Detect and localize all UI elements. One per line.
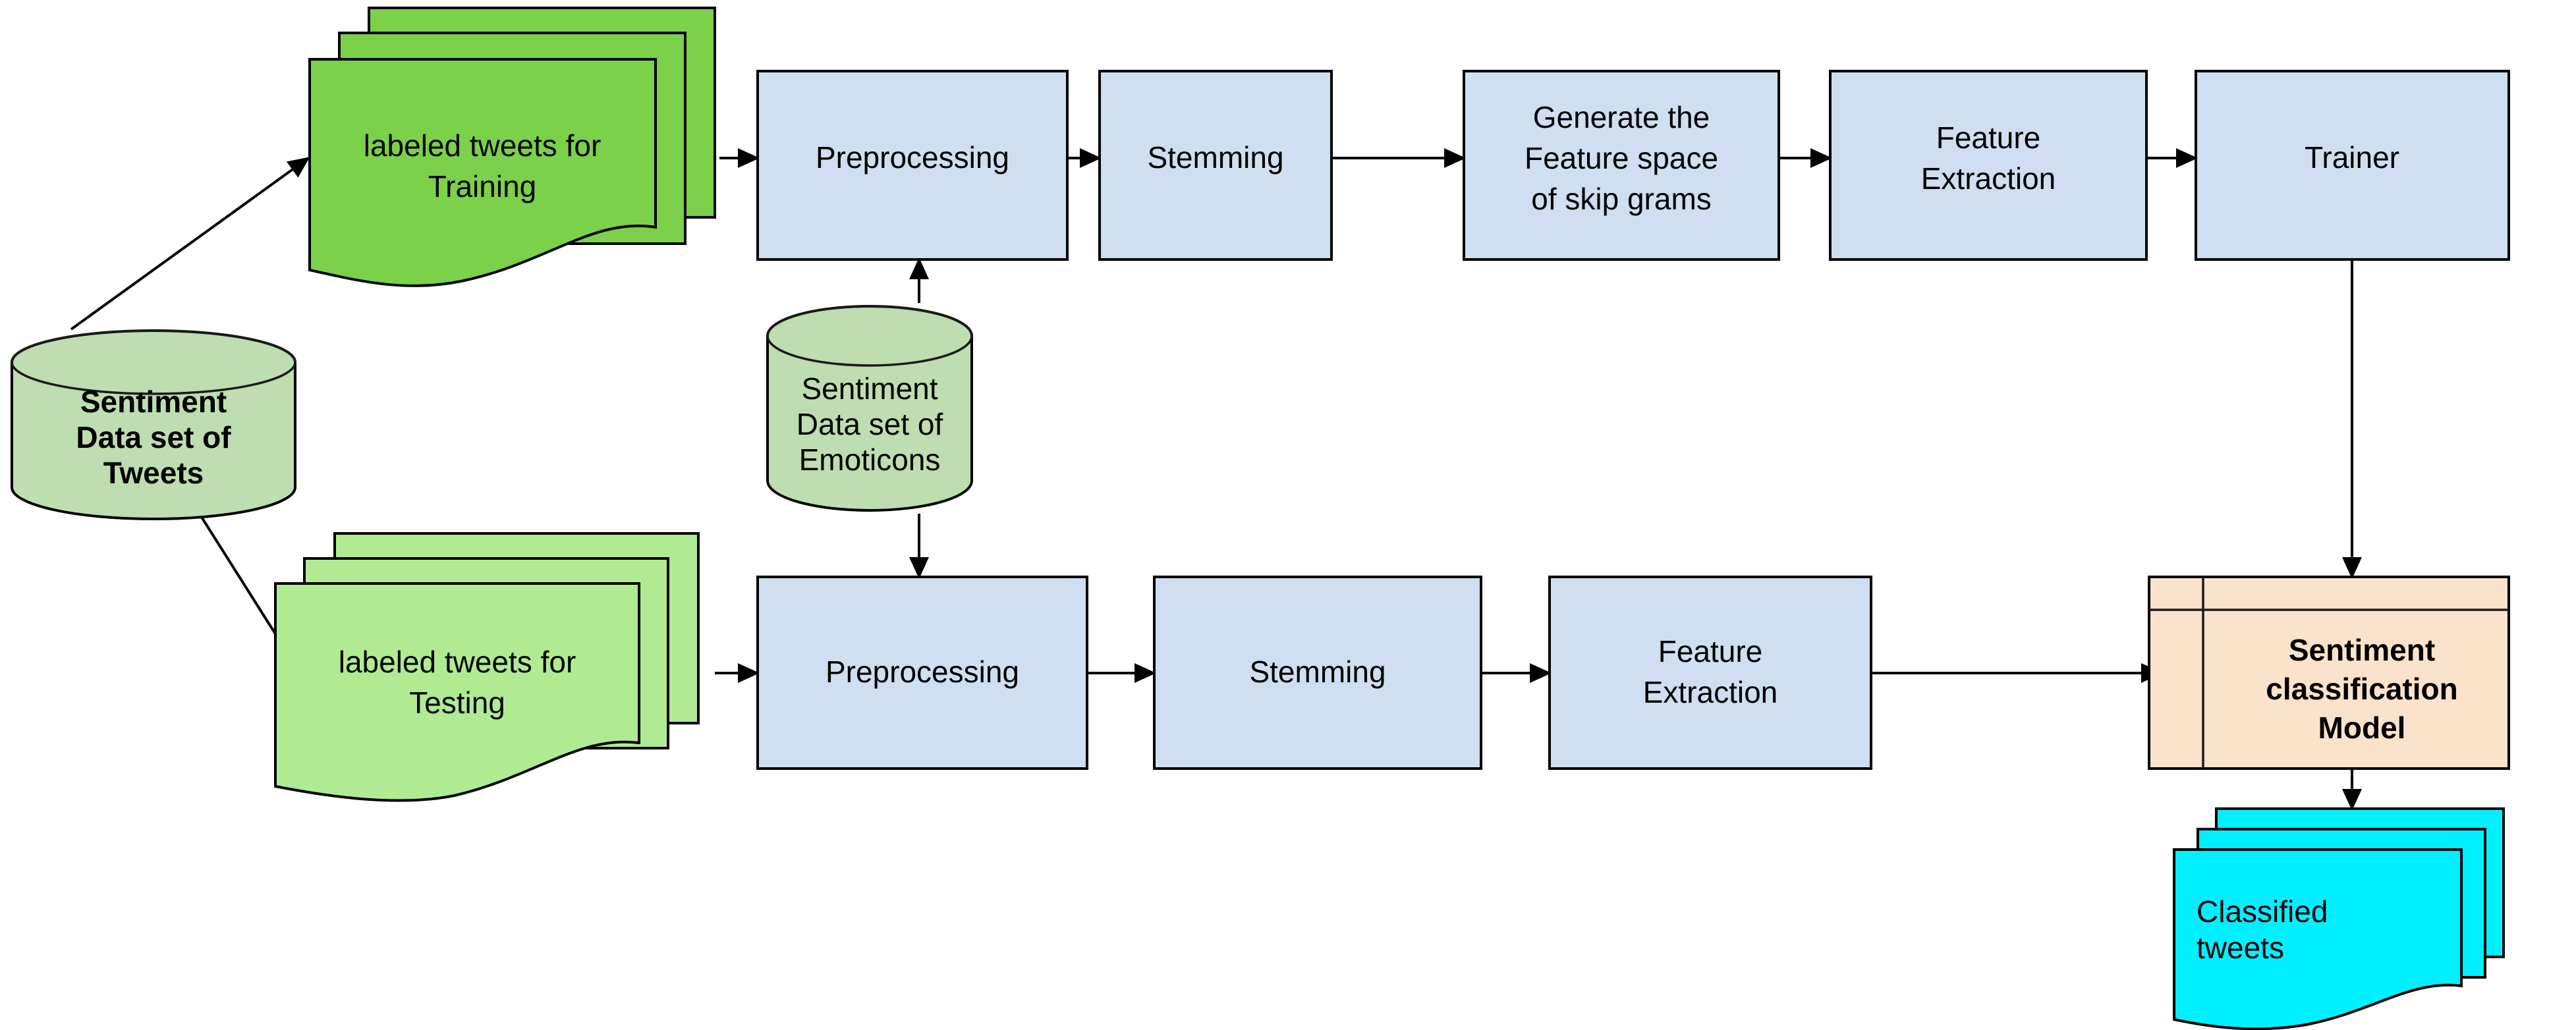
train-skipgrams-line3: of skip grams <box>1531 182 1712 216</box>
classification-model-line2: classification <box>2266 672 2457 706</box>
classification-model-line3: Model <box>2318 711 2406 745</box>
testing-docs-line2: Testing <box>409 686 505 720</box>
edge-source-to-training <box>71 158 308 329</box>
classification-model-line1: Sentiment <box>2289 633 2435 667</box>
node-train-preprocessing[interactable]: Preprocessing <box>758 71 1067 259</box>
node-test-preprocessing[interactable]: Preprocessing <box>758 577 1087 769</box>
emoticon-dataset-line3: Emoticons <box>799 443 941 477</box>
node-train-stemming[interactable]: Stemming <box>1100 71 1331 259</box>
classified-output-line2: tweets <box>2197 931 2284 965</box>
classified-output-line1: Classified <box>2197 894 2328 929</box>
node-train-skipgrams[interactable]: Generate the Feature space of skip grams <box>1464 71 1779 259</box>
test-feature-extraction-line2: Extraction <box>1643 675 1778 709</box>
node-classification-model[interactable]: Sentiment classification Model <box>2149 577 2509 769</box>
node-test-feature-extraction[interactable]: Feature Extraction <box>1550 577 1871 769</box>
node-source-dataset[interactable]: Sentiment Data set of Tweets <box>12 331 295 519</box>
source-dataset-line3: Tweets <box>103 456 204 490</box>
node-classified-output[interactable]: Classified tweets <box>2174 809 2504 1029</box>
test-feature-extraction-line1: Feature <box>1658 634 1763 668</box>
emoticon-dataset-line1: Sentiment <box>801 371 938 406</box>
flowchart-canvas: Sentiment Data set of Tweets Sentiment D… <box>0 0 2576 1030</box>
train-skipgrams-line1: Generate the <box>1533 100 1710 134</box>
training-docs-line1: labeled tweets for <box>364 128 602 163</box>
training-docs-line2: Training <box>428 169 536 203</box>
train-preprocessing-label: Preprocessing <box>816 140 1009 175</box>
train-stemming-label: Stemming <box>1147 140 1283 175</box>
node-training-docs[interactable]: labeled tweets for Training <box>310 8 715 286</box>
node-emoticon-dataset[interactable]: Sentiment Data set of Emoticons <box>768 306 972 510</box>
source-dataset-line1: Sentiment <box>80 385 227 419</box>
testing-docs-line1: labeled tweets for <box>339 645 576 679</box>
node-trainer[interactable]: Trainer <box>2196 71 2509 259</box>
emoticon-dataset-line2: Data set of <box>797 407 943 441</box>
train-feature-extraction-line2: Extraction <box>1921 161 2056 196</box>
trainer-label: Trainer <box>2305 140 2399 175</box>
source-dataset-line2: Data set of <box>76 420 231 454</box>
flowchart-svg: Sentiment Data set of Tweets Sentiment D… <box>0 0 2576 1030</box>
node-testing-docs[interactable]: labeled tweets for Testing <box>275 533 698 801</box>
test-preprocessing-label: Preprocessing <box>826 655 1019 689</box>
node-train-feature-extraction[interactable]: Feature Extraction <box>1830 71 2146 259</box>
test-stemming-label: Stemming <box>1249 655 1386 689</box>
train-skipgrams-line2: Feature space <box>1525 141 1718 175</box>
train-feature-extraction-line1: Feature <box>1936 121 2041 155</box>
node-test-stemming[interactable]: Stemming <box>1154 577 1481 769</box>
